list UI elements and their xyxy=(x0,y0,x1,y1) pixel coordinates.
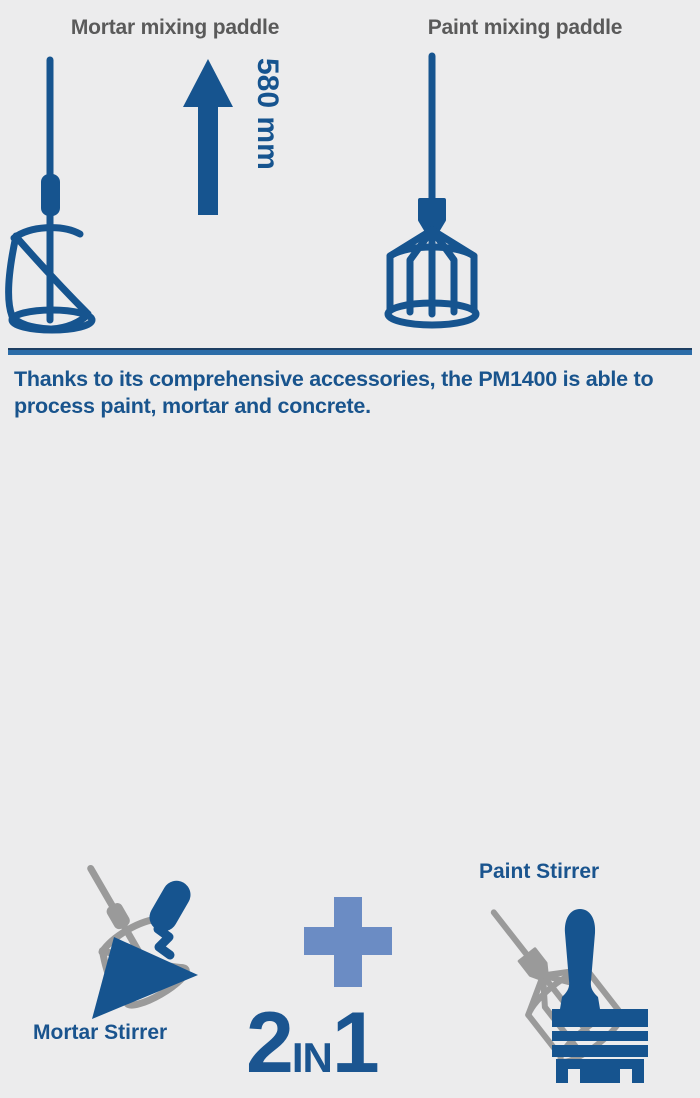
mortar-dimension-label: 580 mm xyxy=(250,58,284,170)
mortar-paddle-panel: Mortar mixing paddle xyxy=(0,0,350,345)
paddle-comparison-section: Mortar mixing paddle xyxy=(0,0,700,345)
headline-text: Thanks to its comprehensive accessories,… xyxy=(14,366,674,421)
mortar-stirrer-label: Mortar Stirrer xyxy=(33,1021,167,1045)
mortar-paddle-illustration xyxy=(0,48,350,343)
paint-stirrer-label: Paint Stirrer xyxy=(479,860,599,884)
badge-number-first: 2 xyxy=(246,995,292,1091)
paint-stirrer-icon xyxy=(464,889,627,1068)
paint-paddle-panel: Paint mixing paddle xyxy=(350,0,700,345)
accessories-section: Mortar Stirrer 2IN1 xyxy=(0,425,700,700)
mortar-dimension-arrow xyxy=(180,55,240,225)
section-divider xyxy=(8,348,692,355)
paint-stirrer-and-brush-illustration xyxy=(460,887,690,1087)
mortar-paddle-title: Mortar mixing paddle xyxy=(0,16,350,40)
paint-paddle-title: Paint mixing paddle xyxy=(350,16,700,40)
infographic-page: Mortar mixing paddle xyxy=(0,0,700,700)
paintbrush-icon xyxy=(552,909,648,1083)
mortar-stirrer-and-trowel-illustration xyxy=(18,857,248,1022)
paint-paddle-illustration xyxy=(350,48,700,343)
plus-icon xyxy=(288,895,408,990)
badge-number-second: 1 xyxy=(332,995,378,1091)
two-in-one-badge: 2IN1 xyxy=(246,1003,446,1083)
badge-middle-text: IN xyxy=(292,1034,332,1081)
